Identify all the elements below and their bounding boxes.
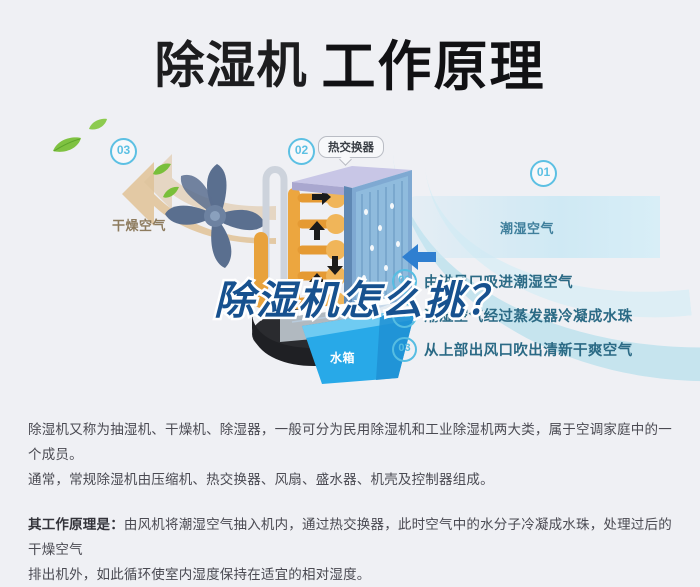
dry-air-label: 干燥空气 <box>112 215 166 234</box>
body-copy: 除湿机又称为抽湿机、干燥机、除湿器，一般可分为民用除湿机和工业除湿机两大类，属于… <box>28 417 678 587</box>
water-tank-label: 水箱 <box>330 349 355 366</box>
step-badge: 03 <box>392 337 417 362</box>
diagram-badge-02: 02 <box>288 138 315 165</box>
diagram-badge-01: 01 <box>530 160 557 187</box>
leaf-icon <box>52 136 82 154</box>
diagram-badge-03: 03 <box>110 138 137 165</box>
paragraph-2-line-1-text: 由风机将潮湿空气抽入机内，通过热交换器，此时空气中的水分子冷凝成水珠，处理过后的… <box>28 517 672 557</box>
paragraph-2-lead: 其工作原理是： <box>28 517 124 532</box>
paragraph-2-line-1: 其工作原理是：由风机将潮湿空气抽入机内，通过热交换器，此时空气中的水分子冷凝成水… <box>28 512 678 562</box>
leaf-icon <box>88 118 108 131</box>
heat-exchanger-callout: 热交换器 <box>318 136 384 158</box>
page-title-part1: 除湿机 <box>155 38 308 94</box>
paragraph-1-line-2: 通常，常规除湿机由压缩机、热交换器、风扇、盛水器、机壳及控制器组成。 <box>28 467 678 492</box>
step-text: 从上部出风口吹出清新干爽空气 <box>424 339 633 360</box>
overlay-headline: 除湿机怎么挑？ <box>214 268 508 326</box>
page-title-part2: 工作原理 <box>322 37 546 97</box>
page-title: 除湿机工作原理 <box>0 22 700 101</box>
paragraph-1-line-1: 除湿机又称为抽湿机、干燥机、除湿器，一般可分为民用除湿机和工业除湿机两大类，属于… <box>28 417 678 467</box>
humid-air-label: 潮湿空气 <box>500 218 554 237</box>
paragraph-spacer <box>28 492 678 512</box>
list-item: 03 从上部出风口吹出清新干爽空气 <box>392 332 692 366</box>
